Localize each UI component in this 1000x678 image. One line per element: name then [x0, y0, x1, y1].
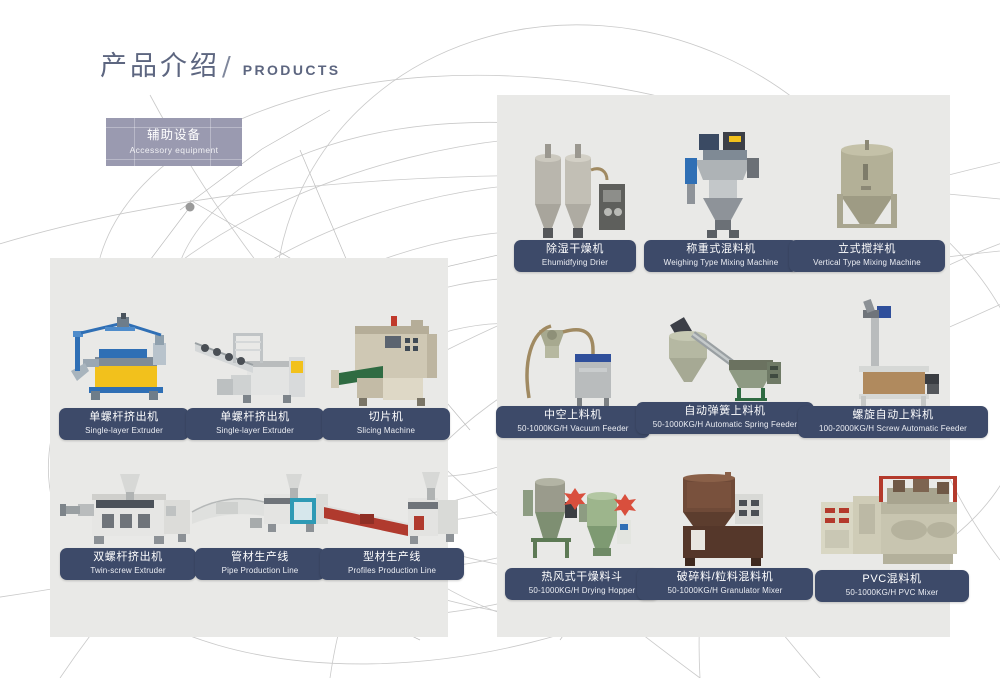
product-name-cn: 称重式混料机 — [686, 243, 756, 256]
product-label-badge[interactable]: 螺旋自动上料机100-2000KG/H Screw Automatic Feed… — [798, 406, 988, 438]
product-name-cn: 型材生产线 — [363, 551, 421, 564]
product-label-badge[interactable]: 中空上料机50-1000KG/H Vacuum Feeder — [496, 406, 650, 438]
product-photo-vertical-mixer — [820, 128, 914, 240]
product-photo-sheet-line-grey — [190, 298, 320, 408]
product-photo-pipe-line-grey — [190, 452, 330, 548]
product-photo-spring-feeder — [662, 302, 788, 402]
product-name-en: Vertical Type Mixing Machine — [813, 257, 921, 268]
product-cell[interactable]: 单螺杆挤出机Single-layer Extruder — [60, 300, 188, 440]
product-cell[interactable]: 除湿干燥机Ehumidfying Drier — [520, 130, 630, 272]
product-name-en: 100-2000KG/H Screw Automatic Feeder — [819, 423, 967, 434]
product-cell[interactable]: 管材生产线Pipe Production Line — [190, 452, 330, 580]
product-label-badge[interactable]: 破碎料/粒料混料机50-1000KG/H Granulator Mixer — [637, 568, 813, 600]
product-name-en: Weighing Type Mixing Machine — [664, 257, 779, 268]
product-name-cn: 单螺杆挤出机 — [89, 411, 159, 424]
product-name-en: Twin-screw Extruder — [90, 565, 165, 576]
product-label-badge[interactable]: 除湿干燥机Ehumidfying Drier — [514, 240, 636, 272]
product-photo-single-extruder-blue — [60, 300, 188, 408]
page-title-cn: 产品介绍 — [100, 44, 220, 83]
product-photo-screw-feeder — [840, 294, 946, 406]
product-name-en: Pipe Production Line — [222, 565, 299, 576]
product-name-en: Single-layer Extruder — [216, 425, 294, 436]
product-label-badge[interactable]: 称重式混料机Weighing Type Mixing Machine — [644, 240, 798, 272]
product-photo-vacuum-feeder — [520, 300, 626, 406]
product-photo-dehumidify-drier — [520, 130, 630, 240]
accessory-equipment-header: 辅助设备 Accessory equipment — [106, 118, 242, 166]
product-name-cn: 双螺杆挤出机 — [93, 551, 163, 564]
product-cell[interactable]: 螺旋自动上料机100-2000KG/H Screw Automatic Feed… — [840, 294, 946, 438]
product-label-badge[interactable]: 自动弹簧上料机50-1000KG/H Automatic Spring Feed… — [636, 402, 814, 434]
product-photo-weighing-mixer — [672, 120, 770, 240]
product-label-badge[interactable]: 双螺杆挤出机Twin-screw Extruder — [60, 548, 196, 580]
product-name-cn: 立式搅拌机 — [838, 243, 896, 256]
product-label-badge[interactable]: 立式搅拌机Vertical Type Mixing Machine — [789, 240, 945, 272]
grid-line — [106, 127, 242, 128]
product-cell[interactable]: 单螺杆挤出机Single-layer Extruder — [190, 298, 320, 440]
product-label-badge[interactable]: 热风式干燥料斗50-1000KG/H Drying Hopper — [505, 568, 659, 600]
product-photo-granulator-mixer — [676, 468, 774, 568]
product-name-en: 50-1000KG/H Automatic Spring Feeder — [653, 419, 797, 430]
product-name-cn: 破碎料/粒料混料机 — [677, 571, 773, 584]
product-name-en: 50-1000KG/H Drying Hopper — [529, 585, 635, 596]
product-label-badge[interactable]: 单螺杆挤出机Single-layer Extruder — [59, 408, 189, 440]
product-cell[interactable]: 称重式混料机Weighing Type Mixing Machine — [672, 120, 770, 272]
product-cell[interactable]: 立式搅拌机Vertical Type Mixing Machine — [820, 128, 914, 272]
product-name-cn: 切片机 — [369, 411, 404, 424]
product-name-en: Ehumidfying Drier — [542, 257, 608, 268]
page-title: 产品介绍 / PRODUCTS — [100, 44, 341, 83]
product-name-en: Slicing Machine — [357, 425, 415, 436]
product-cell[interactable]: 热风式干燥料斗50-1000KG/H Drying Hopper — [516, 466, 648, 600]
product-name-cn: 除湿干燥机 — [546, 243, 604, 256]
product-label-badge[interactable]: 单螺杆挤出机Single-layer Extruder — [186, 408, 324, 440]
page-title-en: PRODUCTS — [243, 62, 341, 78]
product-cell[interactable]: 切片机Slicing Machine — [326, 296, 446, 440]
product-label-badge[interactable]: PVC混料机50-1000KG/H PVC Mixer — [815, 570, 969, 602]
product-cell[interactable]: PVC混料机50-1000KG/H PVC Mixer — [816, 472, 968, 602]
product-cell[interactable]: 自动弹簧上料机50-1000KG/H Automatic Spring Feed… — [662, 302, 788, 434]
product-name-en: Single-layer Extruder — [85, 425, 163, 436]
product-label-badge[interactable]: 切片机Slicing Machine — [322, 408, 450, 440]
product-name-cn: 单螺杆挤出机 — [220, 411, 290, 424]
product-photo-profile-line-red — [322, 450, 462, 548]
product-catalog-page: 产品介绍 / PRODUCTS 辅助设备 Accessory equipment — [0, 0, 1000, 678]
product-cell[interactable]: 型材生产线Profiles Production Line — [322, 450, 462, 580]
product-cell[interactable]: 中空上料机50-1000KG/H Vacuum Feeder — [520, 300, 626, 438]
product-label-badge[interactable]: 管材生产线Pipe Production Line — [195, 548, 325, 580]
grid-line — [106, 159, 242, 160]
product-cell[interactable]: 双螺杆挤出机Twin-screw Extruder — [58, 448, 198, 580]
product-photo-drying-hopper — [516, 466, 648, 568]
product-name-en: Profiles Production Line — [348, 565, 436, 576]
product-photo-twin-extruder-grey — [58, 448, 198, 548]
product-name-cn: 中空上料机 — [544, 409, 602, 422]
page-title-slash: / — [222, 52, 231, 82]
product-photo-slicing-machine-beige — [326, 296, 446, 408]
accessory-label-en: Accessory equipment — [130, 144, 219, 156]
product-label-badge[interactable]: 型材生产线Profiles Production Line — [320, 548, 464, 580]
product-name-en: 50-1000KG/H PVC Mixer — [846, 587, 939, 598]
product-photo-pvc-mixer — [816, 472, 968, 570]
accessory-label-cn: 辅助设备 — [147, 128, 201, 143]
product-name-en: 50-1000KG/H Granulator Mixer — [668, 585, 783, 596]
product-name-en: 50-1000KG/H Vacuum Feeder — [517, 423, 628, 434]
product-cell[interactable]: 破碎料/粒料混料机50-1000KG/H Granulator Mixer — [676, 468, 774, 600]
product-name-cn: 管材生产线 — [231, 551, 289, 564]
product-name-cn: 螺旋自动上料机 — [852, 409, 933, 422]
product-name-cn: PVC混料机 — [862, 573, 921, 586]
product-name-cn: 自动弹簧上料机 — [684, 405, 765, 418]
product-name-cn: 热风式干燥料斗 — [541, 571, 622, 584]
